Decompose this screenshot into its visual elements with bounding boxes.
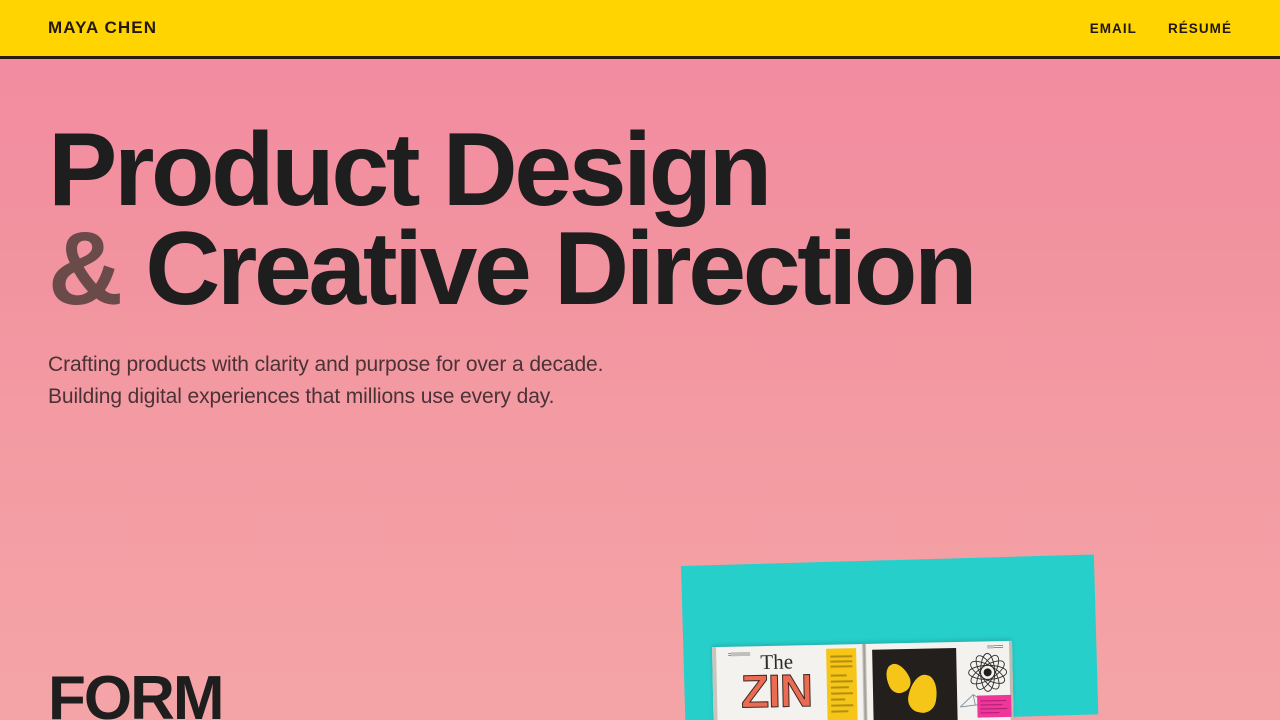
headline-line-2-text: Creative Direction xyxy=(145,211,974,327)
section-heading-form: FORM xyxy=(48,668,223,720)
subtitle-line-1: Crafting products with clarity and purpo… xyxy=(48,349,603,381)
headline-line-2: & Creative Direction xyxy=(48,220,974,319)
main-nav: EMAIL RÉSUMÉ xyxy=(1090,21,1232,36)
right-page-folio-lines xyxy=(987,645,1003,648)
magazine-photo: The ZIN xyxy=(660,552,1100,720)
page-root: MAYA CHEN EMAIL RÉSUMÉ Product Design & … xyxy=(0,0,1280,720)
pink-sticky-note xyxy=(977,695,1011,718)
left-page-yellow-sidebar xyxy=(826,648,858,720)
site-header: MAYA CHEN EMAIL RÉSUMÉ xyxy=(0,0,1280,59)
magazine-left-page: The ZIN xyxy=(712,644,866,720)
hero-subtitle: Crafting products with clarity and purpo… xyxy=(48,349,603,413)
black-illustration-panel xyxy=(872,648,957,720)
magazine-title-word: ZIN xyxy=(740,667,812,714)
page-title: Product Design & Creative Direction xyxy=(48,121,974,319)
nav-link-email[interactable]: EMAIL xyxy=(1090,21,1137,36)
left-page-kicker-lines xyxy=(728,652,750,656)
ampersand-glyph: & xyxy=(48,211,120,327)
subtitle-line-2: Building digital experiences that millio… xyxy=(48,381,603,413)
atom-diagram-icon xyxy=(966,651,1009,694)
headline-line-1: Product Design xyxy=(48,121,974,220)
brand-name[interactable]: MAYA CHEN xyxy=(48,18,157,38)
nav-link-resume[interactable]: RÉSUMÉ xyxy=(1168,21,1232,36)
yellow-pear-shape-2 xyxy=(906,672,941,715)
magazine-right-page xyxy=(864,641,1014,720)
open-magazine: The ZIN xyxy=(712,641,1014,720)
